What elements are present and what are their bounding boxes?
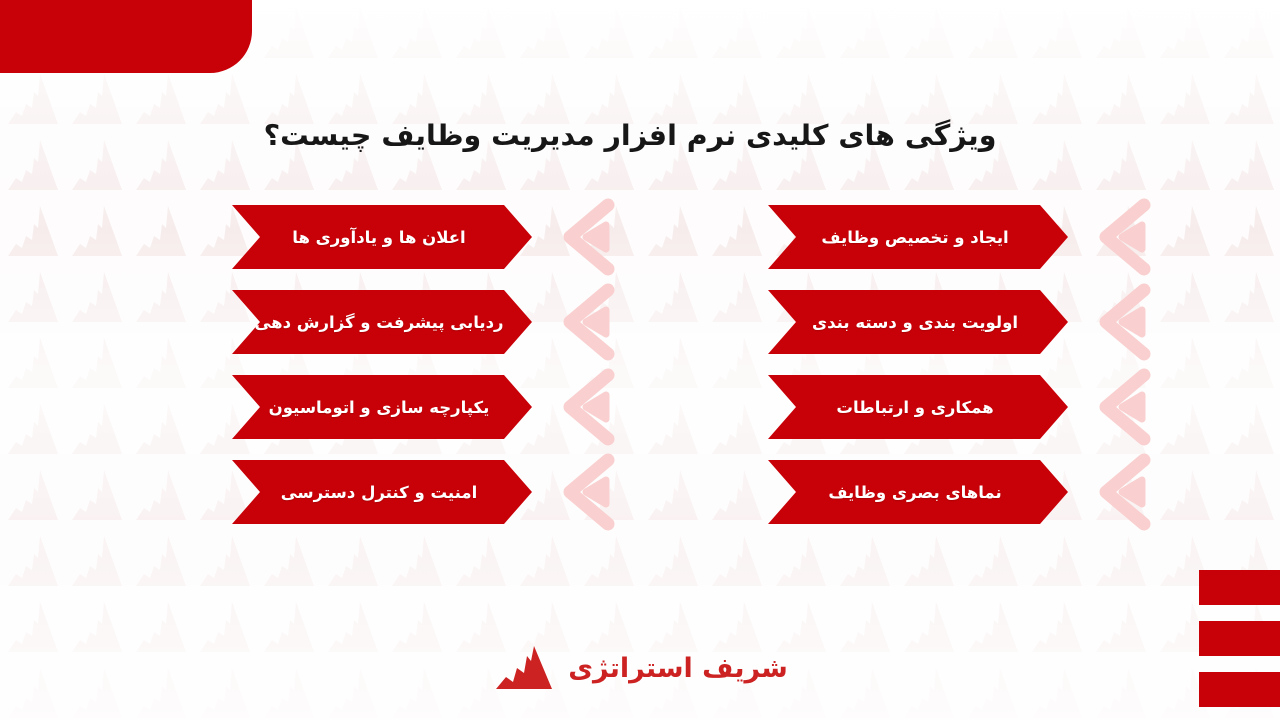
feature-item[interactable]: امنیت و کنترل دسترسی	[232, 460, 568, 524]
feature-label: همکاری و ارتباطات	[768, 375, 1068, 439]
feature-label: امنیت و کنترل دسترسی	[232, 460, 532, 524]
logo-text: شریف استراتژی	[568, 653, 788, 684]
edge-bar	[1199, 570, 1280, 605]
feature-item[interactable]: ردیابی پیشرفت و گزارش دهی	[232, 290, 568, 354]
feature-label: ایجاد و تخصیص وظایف	[768, 205, 1068, 269]
feature-label: یکپارچه سازی و اتوماسیون	[232, 375, 532, 439]
feature-label: نماهای بصری وظایف	[768, 460, 1068, 524]
feature-column-left: اعلان ها و یادآوری ها ردیابی پیشرفت و گز…	[232, 205, 568, 524]
feature-item[interactable]: یکپارچه سازی و اتوماسیون	[232, 375, 568, 439]
feature-item[interactable]: اعلان ها و یادآوری ها	[232, 205, 568, 269]
page-title: ویژگی های کلیدی نرم افزار مدیریت وظایف چ…	[0, 115, 1280, 157]
top-left-red-block	[0, 0, 252, 73]
feature-item[interactable]: ایجاد و تخصیص وظایف	[768, 205, 1104, 269]
slide-canvas: ویژگی های کلیدی نرم افزار مدیریت وظایف چ…	[0, 0, 1280, 720]
feature-column-right: ایجاد و تخصیص وظایف اولویت بندی و دسته ب…	[768, 205, 1104, 524]
feature-label: ردیابی پیشرفت و گزارش دهی	[232, 290, 532, 354]
feature-label: اعلان ها و یادآوری ها	[232, 205, 532, 269]
feature-item[interactable]: نماهای بصری وظایف	[768, 460, 1104, 524]
feature-item[interactable]: همکاری و ارتباطات	[768, 375, 1104, 439]
feature-item[interactable]: اولویت بندی و دسته بندی	[768, 290, 1104, 354]
brand-logo: شریف استراتژی	[0, 644, 1280, 692]
feature-label: اولویت بندی و دسته بندی	[768, 290, 1068, 354]
stepped-mountain-logo-mark	[492, 644, 554, 692]
